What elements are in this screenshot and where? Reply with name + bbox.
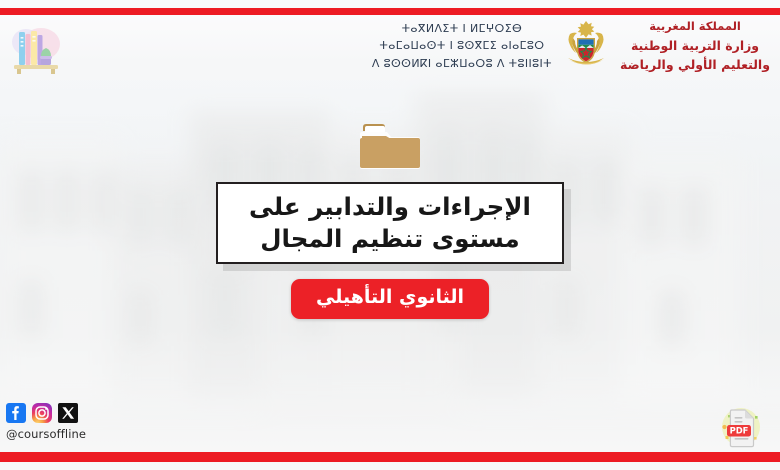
ministry-tifinagh-line-3: ⴷ ⵓⵙⵙⵍⴽⵏ ⴰⵎⵣⵡⴰⵔⵓ ⴷ ⵜⵓⵏⵏⵓⵏⵜ [372,55,552,73]
folder-icon [359,120,421,172]
x-twitter-icon[interactable] [58,403,78,423]
social-handle: @coursoffline [6,427,86,441]
facebook-icon[interactable] [6,403,26,423]
instagram-icon[interactable] [32,403,52,423]
social-icons [6,403,86,423]
ministry-line-1: المملكة المغربية [620,18,770,36]
pdf-file-icon: PDF [714,404,766,454]
ministry-line-3: والتعليم الأولي والرياضة [620,55,770,74]
ministry-tifinagh-line-2: ⵜⴰⵎⴰⵡⴰⵙⵜ ⵏ ⵓⵙⴳⵎⵉ ⴰⵏⴰⵎⵓⵔ [372,37,552,55]
ministry-lockup: المملكة المغربية وزارة التربية الوطنية و… [372,18,770,75]
slide-canvas: المملكة المغربية وزارة التربية الوطنية و… [0,0,780,470]
morocco-coat-of-arms-icon [562,18,610,74]
slide-content: الإجراءات والتدابير على مستوى تنظيم المج… [0,120,780,319]
ministry-line-2: وزارة التربية الوطنية [620,36,770,55]
ministry-name-tifinagh: ⵜⴰⴳⵍⴷⵉⵜ ⵏ ⵍⵎⵖⵔⵉⴱ ⵜⴰⵎⴰⵡⴰⵙⵜ ⵏ ⵓⵙⴳⵎⵉ ⴰⵏⴰⵎⵓⵔ… [372,20,552,73]
bottom-red-rule [0,452,780,462]
social-block: @coursoffline [6,403,86,441]
ministry-name-arabic: المملكة المغربية وزارة التربية الوطنية و… [620,18,770,75]
level-badge: الثانوي التأهيلي [291,279,489,319]
top-red-rule [0,8,780,15]
title-card: الإجراءات والتدابير على مستوى تنظيم المج… [216,182,564,264]
ministry-tifinagh-line-1: ⵜⴰⴳⵍⴷⵉⵜ ⵏ ⵍⵎⵖⵔⵉⴱ [372,20,552,38]
page-title: الإجراءات والتدابير على مستوى تنظيم المج… [230,191,550,256]
bookshelf-icon [8,20,66,78]
pdf-badge-label: PDF [730,426,749,436]
